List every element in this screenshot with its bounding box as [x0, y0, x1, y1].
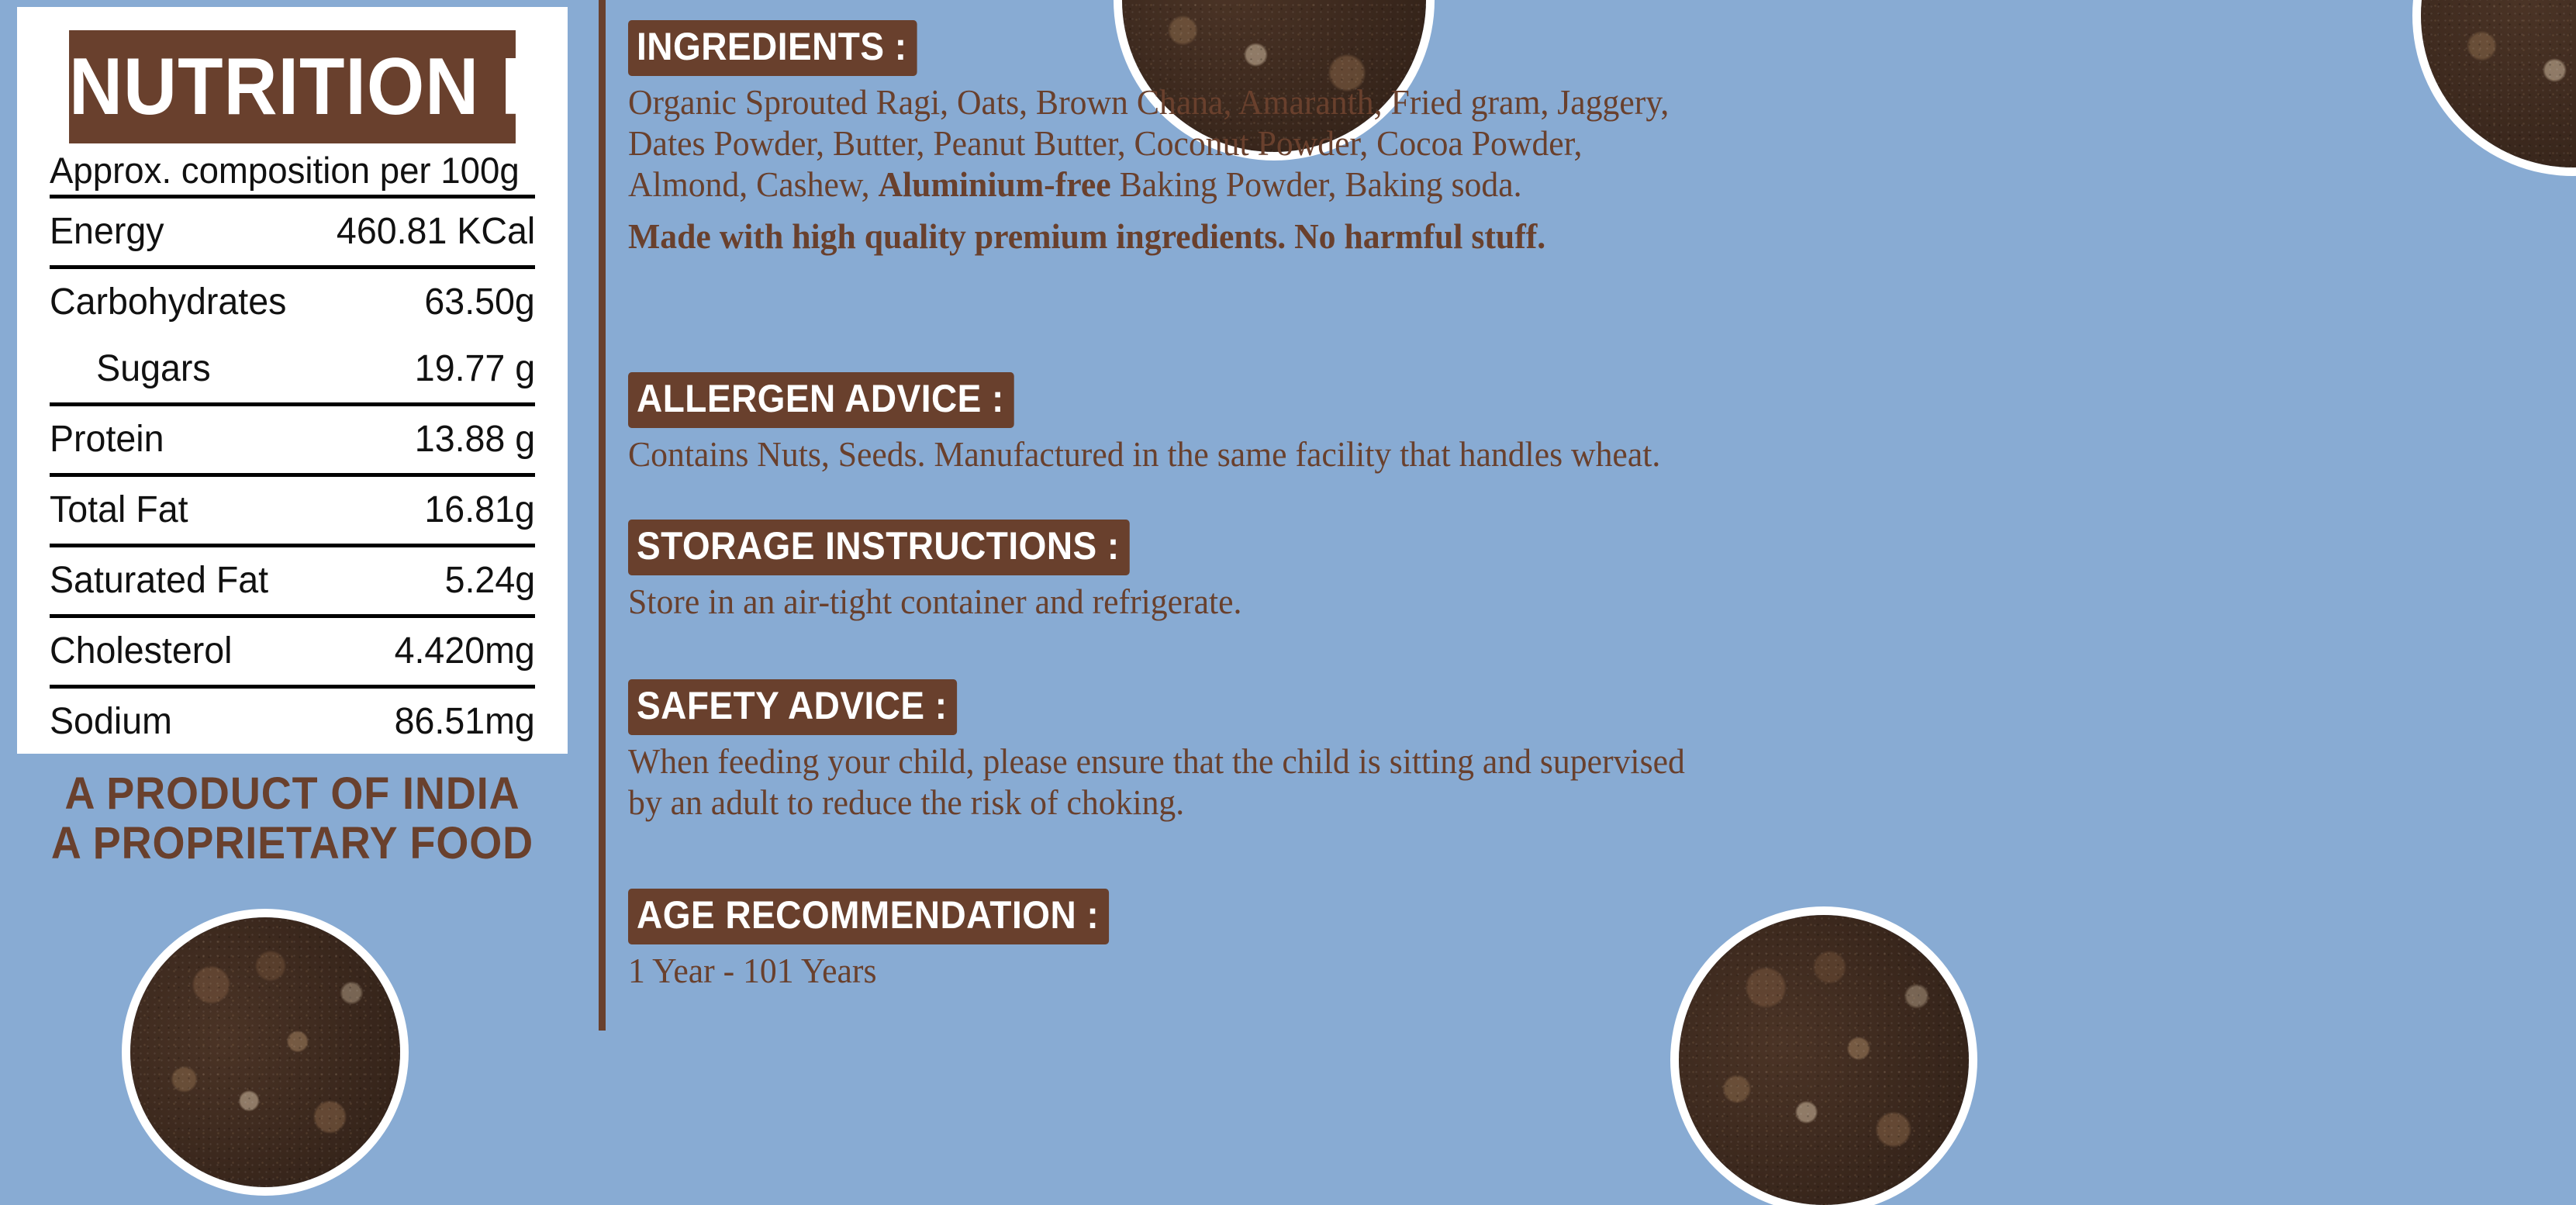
nutrition-facts-subtitle: Approx. composition per 100g [50, 143, 520, 195]
section-safety-advice: SAFETY ADVICE : When feeding your child,… [628, 679, 1741, 823]
nutrient-value: 4.420mg [395, 618, 535, 685]
safety-advice-heading: SAFETY ADVICE : [628, 679, 957, 735]
allergen-line-1: Contains Nuts, Seeds. Manufactured in th… [628, 433, 1660, 475]
country-of-origin-block: A PRODUCT OF INDIA A PROPRIETARY FOOD [36, 769, 548, 868]
nutrition-facts-panel: NUTRITION FACTS Approx. composition per … [17, 7, 568, 754]
nutrient-value: 460.81 KCal [337, 199, 535, 265]
nutrition-facts-title: NUTRITION FACTS [69, 30, 516, 143]
nutrient-value: 16.81g [425, 477, 535, 544]
nutrient-label: Sugars [50, 336, 211, 402]
safety-advice-body: When feeding your child, please ensure t… [628, 741, 1685, 823]
table-row: Protein 13.88 g [50, 406, 535, 473]
proprietary-food-text: A PROPRIETARY FOOD [36, 819, 548, 868]
quality-note: Made with high quality premium ingredien… [628, 216, 1669, 257]
ingredients-line-3-post: Baking Powder, Baking soda. [1111, 164, 1522, 204]
table-row: Sugars 19.77 g [50, 336, 535, 402]
table-row: Carbohydrates 63.50g [50, 269, 535, 336]
allergen-advice-heading: ALLERGEN ADVICE : [628, 372, 1014, 428]
ingredients-line-1: Organic Sprouted Ragi, Oats, Brown Chana… [628, 81, 1669, 123]
storage-line-1: Store in an air-tight container and refr… [628, 581, 1241, 622]
nutrient-value: 13.88 g [415, 406, 535, 473]
age-range-text: 1 Year - 101 Years [628, 950, 1124, 991]
safety-line-2: by an adult to reduce the risk of chokin… [628, 782, 1685, 823]
section-ingredients: INGREDIENTS : Organic Sprouted Ragi, Oat… [628, 20, 1724, 257]
nutrient-label: Energy [50, 199, 164, 265]
nutrient-value: 5.24g [444, 547, 535, 614]
table-row: Energy 460.81 KCal [50, 199, 535, 265]
nutrient-value: 63.50g [425, 269, 535, 336]
ingredients-line-3: Almond, Cashew, Aluminium-free Baking Po… [628, 164, 1669, 205]
age-recommendation-body: 1 Year - 101 Years [628, 950, 1124, 991]
nutrient-label: Protein [50, 406, 164, 473]
nutrient-value: 19.77 g [415, 336, 535, 402]
nutrient-label: Sodium [50, 689, 172, 755]
ingredients-heading: INGREDIENTS : [628, 20, 917, 76]
ingredients-body: Organic Sprouted Ragi, Oats, Brown Chana… [628, 81, 1669, 205]
left-column: NUTRITION FACTS Approx. composition per … [0, 0, 601, 1031]
column-divider [599, 0, 606, 1031]
table-row: Cholesterol 4.420mg [50, 618, 535, 685]
nutrient-label: Carbohydrates [50, 269, 286, 336]
ingredients-line-3-pre: Almond, Cashew, [628, 164, 878, 204]
table-row: Sodium 86.51mg [50, 689, 535, 755]
section-allergen-advice: ALLERGEN ADVICE : Contains Nuts, Seeds. … [628, 372, 1714, 475]
section-storage-instructions: STORAGE INSTRUCTIONS : Store in an air-t… [628, 520, 1274, 622]
aluminium-free-emphasis: Aluminium-free [878, 164, 1110, 204]
right-column: INGREDIENTS : Organic Sprouted Ragi, Oat… [606, 0, 2576, 1031]
carbohydrates-group: Carbohydrates 63.50g Sugars 19.77 g [50, 269, 535, 402]
ingredients-line-2: Dates Powder, Butter, Peanut Butter, Coc… [628, 123, 1669, 164]
allergen-advice-body: Contains Nuts, Seeds. Manufactured in th… [628, 433, 1660, 475]
age-recommendation-heading: AGE RECOMMENDATION : [628, 889, 1109, 944]
table-row: Total Fat 16.81g [50, 477, 535, 544]
storage-instructions-body: Store in an air-tight container and refr… [628, 581, 1241, 622]
storage-instructions-heading: STORAGE INSTRUCTIONS : [628, 520, 1130, 575]
nutrient-label: Saturated Fat [50, 547, 268, 614]
table-row: Saturated Fat 5.24g [50, 547, 535, 614]
safety-line-1: When feeding your child, please ensure t… [628, 741, 1685, 782]
product-of-india-text: A PRODUCT OF INDIA [36, 769, 548, 819]
section-age-recommendation: AGE RECOMMENDATION : 1 Year - 101 Years [628, 889, 1151, 991]
nutrient-value: 86.51mg [395, 689, 535, 755]
nutrient-label: Total Fat [50, 477, 188, 544]
nutrient-label: Cholesterol [50, 618, 233, 685]
